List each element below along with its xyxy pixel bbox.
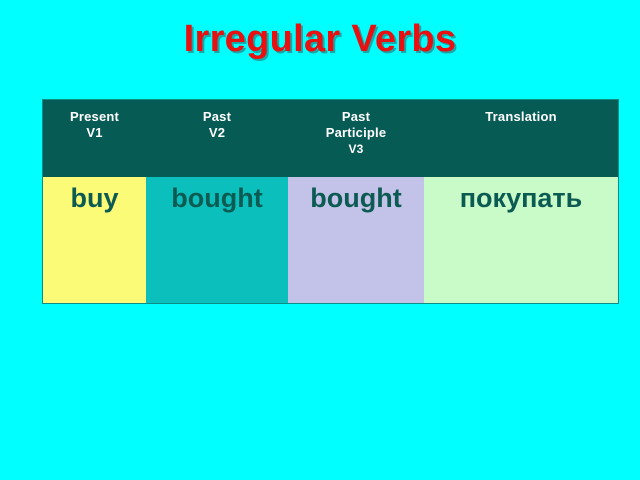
- column-header-past-line2: V2: [146, 125, 288, 141]
- table-header-row: Present V1 Past V2 Past Participle V3 Tr…: [43, 100, 618, 177]
- column-header-present-line2: V1: [43, 125, 146, 141]
- column-header-translation-line1: Translation: [485, 109, 557, 124]
- table-row: buy bought bought покупать: [43, 177, 618, 303]
- column-header-past-line1: Past: [203, 109, 231, 124]
- column-header-present-line1: Present: [70, 109, 119, 124]
- cell-present: buy: [43, 177, 146, 303]
- column-header-past-participle-line3: V3: [288, 141, 424, 157]
- column-header-translation: Translation: [424, 100, 618, 177]
- column-header-past-participle-line2: Participle: [288, 125, 424, 141]
- column-header-past-participle-line1: Past: [342, 109, 370, 124]
- column-header-past: Past V2: [146, 100, 288, 177]
- irregular-verbs-table: Present V1 Past V2 Past Participle V3 Tr…: [42, 99, 619, 304]
- cell-past-participle: bought: [288, 177, 424, 303]
- column-header-present: Present V1: [43, 100, 146, 177]
- page-title: Irregular Verbs: [0, 18, 640, 61]
- slide-canvas: Irregular Verbs Present V1 Past V2 Past …: [0, 0, 640, 480]
- cell-translation: покупать: [424, 177, 618, 303]
- cell-past: bought: [146, 177, 288, 303]
- column-header-past-participle: Past Participle V3: [288, 100, 424, 177]
